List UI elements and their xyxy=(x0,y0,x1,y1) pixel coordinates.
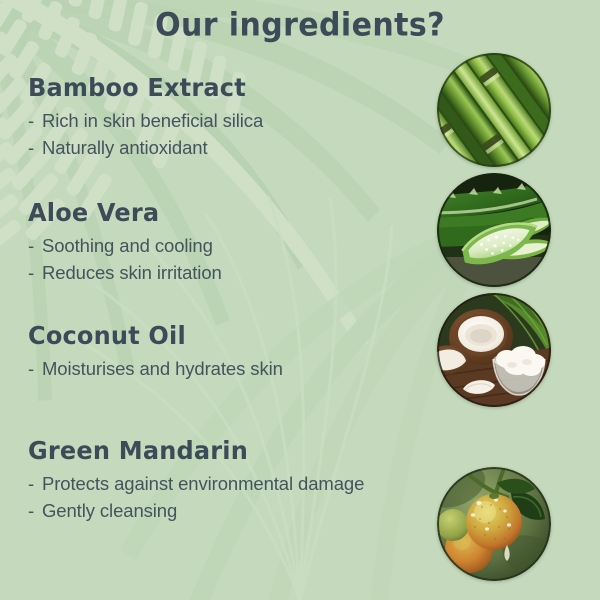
bullet-marker: - xyxy=(28,260,42,286)
bullet-marker: - xyxy=(28,471,42,497)
ingredient-benefit-list: -Protects against environmental damage -… xyxy=(28,471,418,524)
list-item: -Rich in skin beneficial silica xyxy=(28,108,418,134)
page-title: Our ingredients? xyxy=(0,7,600,44)
list-item: -Gently cleansing xyxy=(28,498,418,524)
ingredient-block-aloe-vera: Aloe Vera -Soothing and cooling -Reduces… xyxy=(28,197,418,287)
ingredient-name: Coconut Oil xyxy=(28,320,418,352)
list-item-text: Protects against environmental damage xyxy=(42,473,364,494)
list-item-text: Gently cleansing xyxy=(42,500,177,521)
list-item: -Protects against environmental damage xyxy=(28,471,418,497)
list-item: -Naturally antioxidant xyxy=(28,135,418,161)
list-item: -Reduces skin irritation xyxy=(28,260,418,286)
list-item: -Soothing and cooling xyxy=(28,233,418,259)
bullet-marker: - xyxy=(28,356,42,382)
list-item-text: Soothing and cooling xyxy=(42,235,213,256)
bullet-marker: - xyxy=(28,135,42,161)
list-item-text: Rich in skin beneficial silica xyxy=(42,110,263,131)
ingredient-benefit-list: -Soothing and cooling -Reduces skin irri… xyxy=(28,233,418,286)
list-item: -Moisturises and hydrates skin xyxy=(28,356,418,382)
bullet-marker: - xyxy=(28,233,42,259)
aloe-vera-photo xyxy=(437,173,551,287)
bamboo-stalks-photo xyxy=(437,53,551,167)
ingredient-block-green-mandarin: Green Mandarin -Protects against environ… xyxy=(28,435,418,525)
ingredients-poster: Our ingredients? Bamboo Extract -Rich in… xyxy=(0,0,600,600)
ingredient-benefit-list: -Rich in skin beneficial silica -Natural… xyxy=(28,108,418,161)
ingredient-block-coconut-oil: Coconut Oil -Moisturises and hydrates sk… xyxy=(28,320,418,383)
list-item-text: Reduces skin irritation xyxy=(42,262,222,283)
green-mandarin-photo xyxy=(437,467,551,581)
ingredient-name: Bamboo Extract xyxy=(28,72,418,104)
ingredient-benefit-list: -Moisturises and hydrates skin xyxy=(28,356,418,382)
coconut-oil-photo xyxy=(437,293,551,407)
ingredient-name: Green Mandarin xyxy=(28,435,418,467)
ingredient-block-bamboo-extract: Bamboo Extract -Rich in skin beneficial … xyxy=(28,72,418,162)
ingredient-name: Aloe Vera xyxy=(28,197,418,229)
list-item-text: Naturally antioxidant xyxy=(42,137,208,158)
bullet-marker: - xyxy=(28,498,42,524)
list-item-text: Moisturises and hydrates skin xyxy=(42,358,283,379)
bullet-marker: - xyxy=(28,108,42,134)
